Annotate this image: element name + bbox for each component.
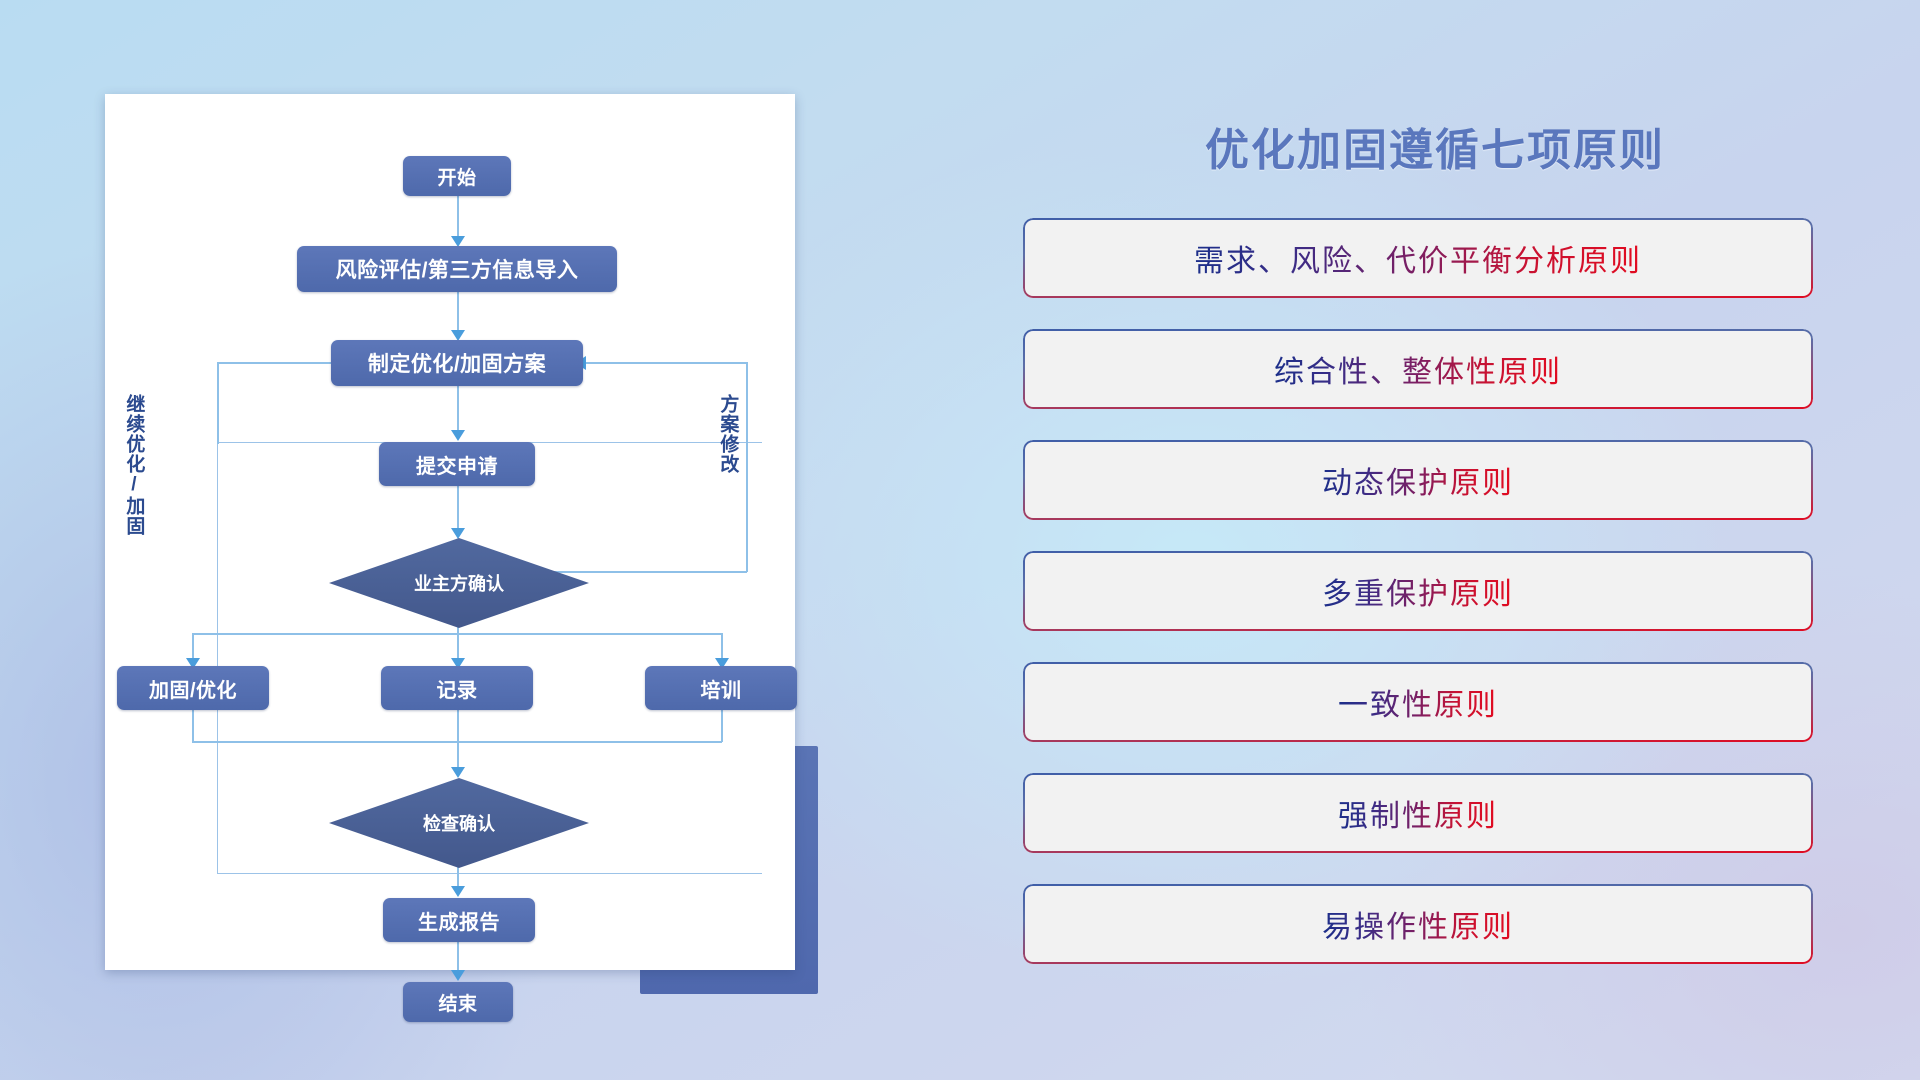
node-check-confirm-label: 检查确认 bbox=[423, 810, 495, 836]
principle-label: 多重保护原则 bbox=[1322, 569, 1514, 613]
slide-canvas: 开始 风险评估/第三方信息导入 制定优化/加固方案 提交申请 业主方确认 加固/… bbox=[0, 0, 1920, 1080]
right-loop-riser bbox=[746, 362, 748, 572]
node-make-plan-label: 制定优化/加固方案 bbox=[368, 348, 546, 378]
node-generate-report-label: 生成报告 bbox=[418, 906, 500, 935]
node-owner-confirm[interactable]: 业主方确认 bbox=[329, 538, 589, 628]
node-submit-application-label: 提交申请 bbox=[416, 450, 498, 479]
node-risk-assessment[interactable]: 风险评估/第三方信息导入 bbox=[297, 246, 617, 292]
arrow-report-to-end bbox=[451, 970, 465, 981]
principle-label: 综合性、整体性原则 bbox=[1274, 347, 1562, 391]
node-start[interactable]: 开始 bbox=[403, 156, 511, 196]
connector-reinforce-to-merge bbox=[192, 709, 194, 742]
arrow-check-to-report bbox=[451, 886, 465, 897]
node-start-label: 开始 bbox=[437, 163, 476, 190]
principle-label: 动态保护原则 bbox=[1322, 458, 1514, 502]
arrow-plan-to-submit bbox=[451, 430, 465, 441]
principle-list: 需求、风险、代价平衡分析原则 综合性、整体性原则 动态保护原则 多重保护原则 一… bbox=[1023, 218, 1813, 995]
panel-title: 优化加固遵循七项原则 bbox=[1020, 114, 1850, 178]
principle-item[interactable]: 综合性、整体性原则 bbox=[1023, 329, 1813, 409]
node-reinforce[interactable]: 加固/优化 bbox=[117, 666, 269, 710]
node-training[interactable]: 培训 bbox=[645, 666, 797, 710]
edge-label-right-loop: 方案修改 bbox=[718, 394, 737, 474]
principle-item[interactable]: 强制性原则 bbox=[1023, 773, 1813, 853]
principle-item[interactable]: 动态保护原则 bbox=[1023, 440, 1813, 520]
connector-start-to-risk bbox=[457, 194, 459, 240]
node-submit-application[interactable]: 提交申请 bbox=[379, 442, 535, 486]
connector-plan-to-submit bbox=[457, 386, 459, 434]
right-loop-bottom bbox=[533, 571, 747, 573]
arrow-submit-to-owner bbox=[451, 528, 465, 539]
principle-label: 需求、风险、代价平衡分析原则 bbox=[1194, 236, 1642, 280]
principles-panel: 优化加固遵循七项原则 需求、风险、代价平衡分析原则 综合性、整体性原则 动态保护… bbox=[1020, 96, 1850, 1026]
node-generate-report[interactable]: 生成报告 bbox=[383, 898, 535, 942]
principle-item[interactable]: 多重保护原则 bbox=[1023, 551, 1813, 631]
edge-label-left-loop: 继续优化/加固 bbox=[124, 394, 143, 536]
connector-training-to-merge bbox=[721, 709, 723, 742]
flowchart-card: 开始 风险评估/第三方信息导入 制定优化/加固方案 提交申请 业主方确认 加固/… bbox=[105, 94, 795, 970]
node-record-label: 记录 bbox=[437, 674, 478, 703]
node-owner-confirm-label: 业主方确认 bbox=[414, 570, 504, 596]
connector-record-to-merge bbox=[457, 709, 459, 742]
arrow-merge-to-check bbox=[451, 767, 465, 778]
right-loop-top bbox=[586, 362, 746, 364]
connector-submit-to-owner bbox=[457, 486, 459, 532]
left-loop-riser bbox=[217, 362, 219, 444]
node-make-plan[interactable]: 制定优化/加固方案 bbox=[331, 340, 583, 386]
node-end-label: 结束 bbox=[438, 989, 477, 1016]
node-check-confirm[interactable]: 检查确认 bbox=[329, 778, 589, 868]
principle-label: 一致性原则 bbox=[1338, 680, 1498, 724]
principle-label: 强制性原则 bbox=[1338, 791, 1498, 835]
principle-item[interactable]: 需求、风险、代价平衡分析原则 bbox=[1023, 218, 1813, 298]
node-end[interactable]: 结束 bbox=[403, 982, 513, 1022]
left-loop-entry bbox=[217, 362, 339, 364]
node-risk-assessment-label: 风险评估/第三方信息导入 bbox=[336, 254, 579, 284]
node-record[interactable]: 记录 bbox=[381, 666, 533, 710]
principle-label: 易操作性原则 bbox=[1322, 902, 1514, 946]
principle-item[interactable]: 一致性原则 bbox=[1023, 662, 1813, 742]
connector-risk-to-plan bbox=[457, 292, 459, 334]
node-training-label: 培训 bbox=[701, 674, 742, 703]
node-reinforce-label: 加固/优化 bbox=[149, 674, 237, 703]
principle-item[interactable]: 易操作性原则 bbox=[1023, 884, 1813, 964]
